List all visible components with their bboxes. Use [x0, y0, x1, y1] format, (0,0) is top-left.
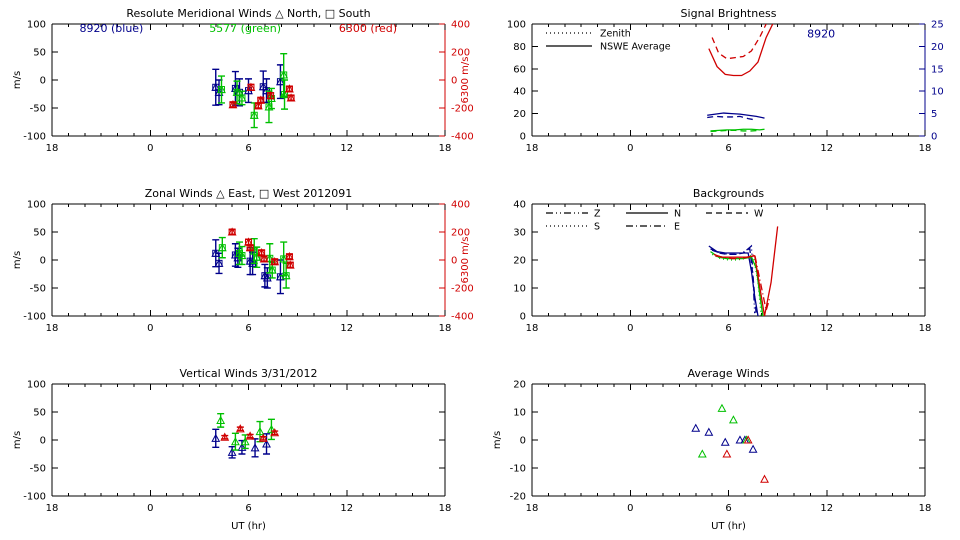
svg-text:-100: -100: [23, 312, 46, 323]
svg-text:m/s: m/s: [12, 71, 23, 89]
svg-text:-400: -400: [451, 312, 474, 323]
svg-text:6300 m/s: 6300 m/s: [460, 57, 471, 104]
svg-text:100: 100: [27, 380, 46, 391]
svg-text:12: 12: [340, 503, 353, 514]
svg-text:Zenith: Zenith: [600, 29, 631, 40]
svg-text:12: 12: [820, 143, 833, 154]
svg-text:m/s: m/s: [492, 431, 503, 449]
svg-text:0: 0: [40, 256, 46, 267]
svg-text:12: 12: [820, 323, 833, 334]
svg-text:18: 18: [919, 323, 932, 334]
svg-text:20: 20: [513, 380, 526, 391]
svg-text:0: 0: [40, 76, 46, 87]
svg-text:Z: Z: [594, 209, 601, 220]
svg-text:0: 0: [40, 436, 46, 447]
svg-text:18: 18: [439, 143, 452, 154]
svg-text:20: 20: [513, 109, 526, 120]
svg-text:-50: -50: [30, 284, 46, 295]
svg-text:0: 0: [147, 143, 153, 154]
svg-text:0: 0: [451, 256, 457, 267]
svg-text:0: 0: [931, 132, 937, 143]
svg-text:50: 50: [33, 408, 46, 419]
svg-text:E: E: [674, 222, 680, 233]
panel-title: Resolute Meridional Winds △ North, □ Sou…: [126, 7, 370, 20]
svg-text:100: 100: [27, 20, 46, 31]
svg-text:15: 15: [931, 64, 944, 75]
svg-text:UT (hr): UT (hr): [711, 521, 746, 532]
plot-panel-average-winds: 1806121820100-10-20Average Windsm/sUT (h…: [480, 360, 960, 540]
svg-text:18: 18: [526, 143, 539, 154]
svg-text:18: 18: [919, 143, 932, 154]
svg-text:50: 50: [33, 228, 46, 239]
panel-annotation: 8920 (blue): [80, 22, 144, 35]
svg-text:6: 6: [725, 503, 731, 514]
svg-text:60: 60: [513, 64, 526, 75]
svg-text:18: 18: [46, 323, 59, 334]
svg-text:20: 20: [513, 256, 526, 267]
svg-text:400: 400: [451, 20, 470, 31]
svg-text:0: 0: [520, 312, 526, 323]
svg-text:-200: -200: [451, 104, 474, 115]
svg-text:-20: -20: [510, 492, 526, 503]
panel-title: Backgrounds: [693, 187, 765, 200]
svg-text:0: 0: [451, 76, 457, 87]
svg-text:-100: -100: [23, 132, 46, 143]
svg-text:0: 0: [627, 503, 633, 514]
plot-panel-vertical-winds: 18061218100500-50-100Vertical Winds 3/31…: [0, 360, 480, 540]
svg-text:6: 6: [245, 323, 251, 334]
svg-text:6300 m/s: 6300 m/s: [460, 237, 471, 284]
svg-text:-400: -400: [451, 132, 474, 143]
svg-text:18: 18: [919, 503, 932, 514]
svg-text:UT (hr): UT (hr): [231, 521, 266, 532]
svg-text:10: 10: [513, 284, 526, 295]
panel-annotation: 5577 (green): [209, 22, 281, 35]
svg-text:5: 5: [931, 109, 937, 120]
svg-text:0: 0: [520, 132, 526, 143]
svg-text:N: N: [674, 209, 681, 220]
svg-text:-100: -100: [23, 492, 46, 503]
svg-text:10: 10: [931, 87, 944, 98]
panel-title: Average Winds: [687, 367, 769, 380]
panel-title: Zonal Winds △ East, □ West 2012091: [145, 187, 353, 200]
svg-text:-200: -200: [451, 284, 474, 295]
panel-title: Signal Brightness: [681, 7, 777, 20]
svg-text:100: 100: [507, 20, 526, 31]
svg-text:6: 6: [725, 323, 731, 334]
panel-annotation: 6300 (red): [339, 22, 397, 35]
svg-text:18: 18: [439, 503, 452, 514]
svg-text:0: 0: [627, 143, 633, 154]
svg-text:20: 20: [931, 42, 944, 53]
svg-text:S: S: [594, 222, 600, 233]
svg-text:-10: -10: [510, 464, 526, 475]
plot-panel-backgrounds: 18061218403020100BackgroundsZNWSE: [480, 180, 960, 360]
svg-text:NSWE Average: NSWE Average: [600, 42, 671, 53]
svg-text:-50: -50: [30, 464, 46, 475]
svg-text:6: 6: [245, 143, 251, 154]
plot-panel-zonal-winds: 18061218100500-50-1004002000-200-400Zona…: [0, 180, 480, 360]
svg-text:30: 30: [513, 228, 526, 239]
svg-text:18: 18: [46, 503, 59, 514]
svg-text:40: 40: [513, 87, 526, 98]
svg-text:m/s: m/s: [12, 431, 23, 449]
plot-panel-signal-brightness: 180612181008060402002520151050Signal Bri…: [480, 0, 960, 180]
svg-text:18: 18: [439, 323, 452, 334]
svg-text:400: 400: [451, 200, 470, 211]
svg-text:6: 6: [725, 143, 731, 154]
svg-text:0: 0: [520, 436, 526, 447]
svg-text:0: 0: [147, 503, 153, 514]
svg-text:40: 40: [513, 200, 526, 211]
svg-text:100: 100: [27, 200, 46, 211]
panel-annotation: 8920: [807, 27, 835, 40]
svg-text:50: 50: [33, 48, 46, 59]
svg-text:6: 6: [245, 503, 251, 514]
svg-text:-50: -50: [30, 104, 46, 115]
svg-text:18: 18: [46, 143, 59, 154]
svg-text:80: 80: [513, 42, 526, 53]
svg-text:12: 12: [340, 143, 353, 154]
svg-text:12: 12: [340, 323, 353, 334]
svg-text:18: 18: [526, 503, 539, 514]
svg-text:m/s: m/s: [12, 251, 23, 269]
panel-title: Vertical Winds 3/31/2012: [180, 367, 318, 380]
svg-text:18: 18: [526, 323, 539, 334]
svg-text:0: 0: [147, 323, 153, 334]
svg-text:12: 12: [820, 503, 833, 514]
svg-text:25: 25: [931, 20, 944, 31]
plot-panel-meridional-winds: 18061218100500-50-1004002000-200-400Reso…: [0, 0, 480, 180]
svg-text:10: 10: [513, 408, 526, 419]
svg-text:0: 0: [627, 323, 633, 334]
figure-grid: 18061218100500-50-1004002000-200-400Reso…: [0, 0, 960, 540]
svg-text:W: W: [754, 209, 764, 220]
